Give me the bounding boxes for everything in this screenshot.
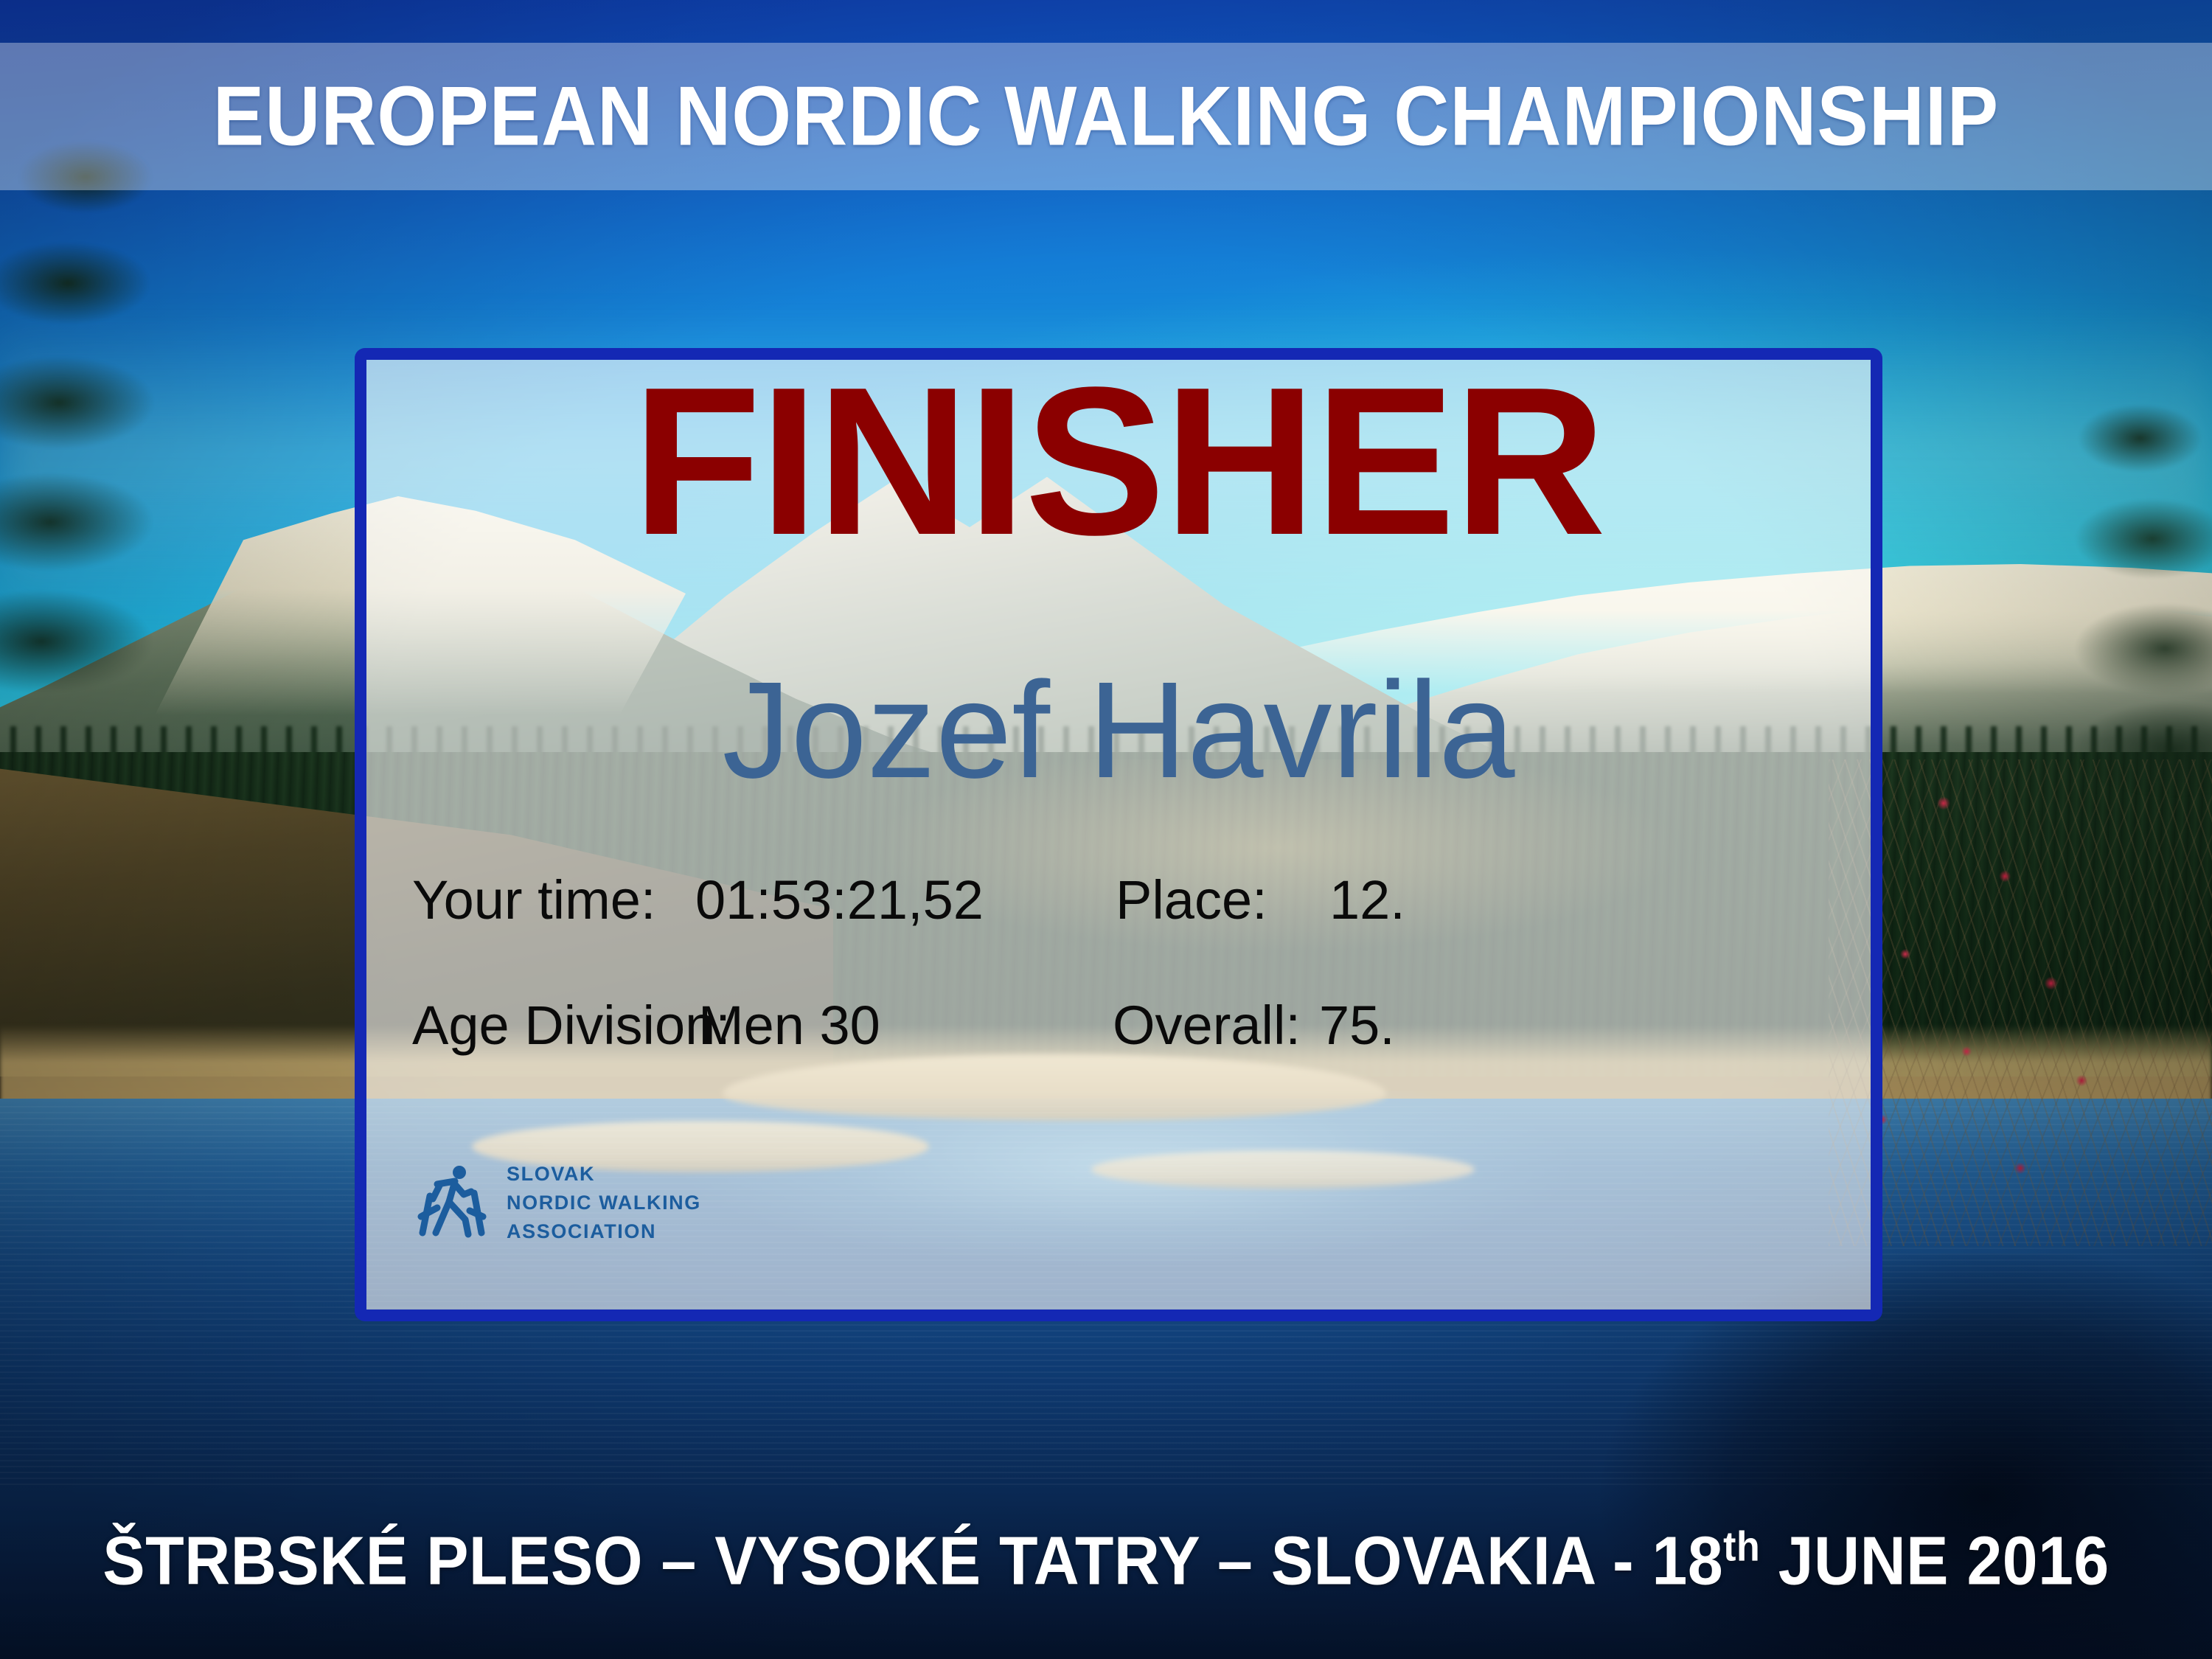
place-label: Place: <box>1067 869 1310 931</box>
time-label: Your time: <box>366 869 684 931</box>
logo-line-1: SLOVAK <box>507 1163 595 1185</box>
association-logo: SLOVAK NORDIC WALKING ASSOCIATION <box>412 1160 701 1246</box>
location-text: ŠTRBSKÉ PLESO – VYSOKÉ TATRY – SLOVAKIA … <box>102 1523 1723 1599</box>
stat-row: Age Division: Men 30 Overall: 75. <box>366 994 1871 1057</box>
age-division-label: Age Division: <box>366 994 684 1057</box>
header-banner: EUROPEAN NORDIC WALKING CHAMPIONSHIP <box>0 43 2212 190</box>
nordic-walker-icon <box>412 1162 495 1245</box>
event-location-date: ŠTRBSKÉ PLESO – VYSOKÉ TATRY – SLOVAKIA … <box>102 1522 2110 1601</box>
time-value: 01:53:21,52 <box>684 869 1067 931</box>
championship-title: EUROPEAN NORDIC WALKING CHAMPIONSHIP <box>213 69 1999 165</box>
overall-label: Overall: <box>1067 994 1310 1057</box>
athlete-name: Jozef Havrila <box>366 662 1871 799</box>
association-name: SLOVAK NORDIC WALKING ASSOCIATION <box>507 1160 701 1246</box>
certificate-canvas: EUROPEAN NORDIC WALKING CHAMPIONSHIP FIN… <box>0 0 2212 1659</box>
place-value: 12. <box>1310 869 1458 931</box>
age-division-value: Men 30 <box>684 994 1067 1057</box>
logo-line-2: NORDIC WALKING <box>507 1192 701 1214</box>
overall-value: 75. <box>1310 994 1458 1057</box>
month-year-text: JUNE 2016 <box>1760 1523 2110 1599</box>
ordinal-suffix: th <box>1723 1524 1760 1571</box>
footer-banner: ŠTRBSKÉ PLESO – VYSOKÉ TATRY – SLOVAKIA … <box>0 1489 2212 1659</box>
stat-row: Your time: 01:53:21,52 Place: 12. <box>366 869 1871 931</box>
logo-line-3: ASSOCIATION <box>507 1220 656 1242</box>
finisher-heading: FINISHER <box>366 355 1871 566</box>
certificate-panel: FINISHER Jozef Havrila Your time: 01:53:… <box>355 348 1882 1321</box>
